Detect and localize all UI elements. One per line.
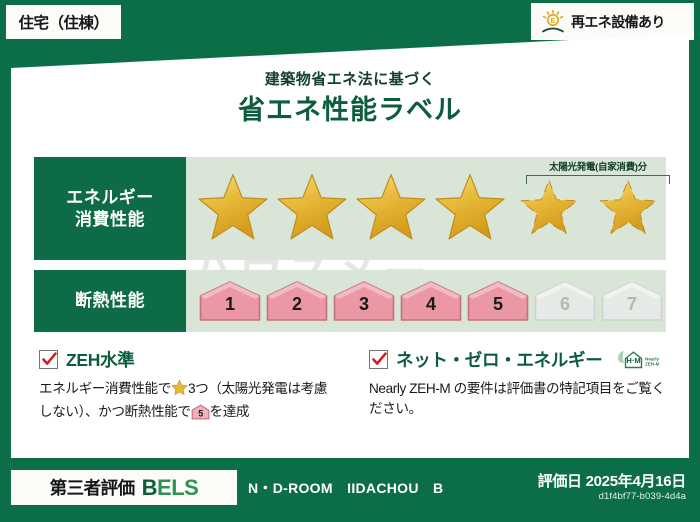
star-filled xyxy=(352,170,430,248)
bels-wordmark: BELS xyxy=(142,475,199,501)
zeh-m-house-text: H·M xyxy=(627,356,641,365)
evaluation-id: d1f4bf77-b039-4d4a xyxy=(599,491,686,502)
footer-bar: 第三者評価 BELS N・D-ROOM IIDACHOU B 評価日 2025年… xyxy=(0,458,700,522)
insulation-badge-number: 7 xyxy=(600,294,664,315)
net-zero-title: ネット・ゼロ・エネルギー xyxy=(396,347,602,372)
renewable-equipment-badge: E 再エネ設備あり xyxy=(531,3,694,40)
star-filled xyxy=(273,170,351,248)
bels-energy-label: 住宅（住棟） E 再エネ設備あり 建築物省エネ法に基づく 省エネ性能ラベル ハウ… xyxy=(0,0,700,522)
insulation-badge-4: 4 xyxy=(399,279,463,323)
net-zero-body: Nearly ZEH-M の要件は評価書の特記項目をご覧ください。 xyxy=(369,379,669,419)
insulation-badge-number: 3 xyxy=(332,294,396,315)
insulation-badge-3: 3 xyxy=(332,279,396,323)
energy-performance-row: エネルギー 消費性能 太陽光発電(自家消費)分 xyxy=(34,157,666,260)
star-filled xyxy=(431,170,509,248)
zeh-check-icon xyxy=(39,350,58,369)
insulation-badge-5: 5 xyxy=(466,279,530,323)
svg-text:E: E xyxy=(551,18,556,25)
inline-badge-number: 5 xyxy=(198,409,203,419)
zeh-body-part1: エネルギー消費性能で xyxy=(39,381,171,396)
zeh-standard-block: ZEH水準 エネルギー消費性能で3つ（太陽光発電は考慮しない）、かつ断熱性能で5… xyxy=(39,347,339,426)
renewable-badge-label: 再エネ設備あり xyxy=(571,12,665,32)
energy-row-body: 太陽光発電(自家消費)分 xyxy=(186,157,666,260)
insulation-badge-number: 4 xyxy=(399,294,463,315)
evaluation-date: 評価日 2025年4月16日 xyxy=(538,470,686,491)
building-type-tag: 住宅（住棟） xyxy=(6,5,121,39)
label-card: 建築物省エネ法に基づく 省エネ性能ラベル ハウスメー エネルギー 消費性能 太陽… xyxy=(11,22,689,458)
net-zero-check-icon xyxy=(369,350,388,369)
insulation-badge-6: 6 xyxy=(533,279,597,323)
star-dashed xyxy=(589,170,667,248)
label-title: 省エネ性能ラベル xyxy=(11,88,689,127)
zeh-standard-heading: ZEH水準 xyxy=(39,347,339,372)
label-subtitle: 建築物省エネ法に基づく xyxy=(11,68,689,89)
building-name: N・D-ROOM IIDACHOU B xyxy=(248,478,443,498)
zeh-standard-title: ZEH水準 xyxy=(66,347,135,372)
net-zero-energy-block: ネット・ゼロ・エネルギー H·M Nearly ZEH-M Nearly ZEH… xyxy=(369,347,669,419)
insulation-badge-2: 2 xyxy=(265,279,329,323)
insulation-badge-1: 1 xyxy=(198,279,262,323)
bels-plate: 第三者評価 BELS xyxy=(11,470,237,505)
net-zero-heading: ネット・ゼロ・エネルギー H·M Nearly ZEH-M xyxy=(369,347,669,372)
energy-row-label: エネルギー 消費性能 xyxy=(34,157,186,260)
insulation-badge-number: 6 xyxy=(533,294,597,315)
energy-label-line1: エネルギー xyxy=(66,187,154,209)
bels-letters-els: ELS xyxy=(157,475,198,500)
star-dashed xyxy=(510,170,588,248)
bels-letter-b: B xyxy=(142,475,157,500)
insulation-grade-inline-badge: 5 xyxy=(191,404,210,426)
zeh-m-house-logo: H·M Nearly ZEH-M xyxy=(615,348,659,372)
insulation-badge-number: 1 xyxy=(198,294,262,315)
zeh-standard-body: エネルギー消費性能で3つ（太陽光発電は考慮しない）、かつ断熱性能で5を達成 xyxy=(39,379,339,426)
insulation-performance-row: 断熱性能 1234567 xyxy=(34,270,666,332)
star-icon xyxy=(171,379,188,402)
zeh-m-caption-line2: ZEH-M xyxy=(645,361,659,366)
star-filled xyxy=(194,170,272,248)
insulation-row-body: 1234567 xyxy=(186,270,666,332)
bels-jp-label: 第三者評価 xyxy=(50,475,135,500)
insulation-grade-badges: 1234567 xyxy=(186,270,666,332)
insulation-badge-number: 2 xyxy=(265,294,329,315)
insulation-badge-number: 5 xyxy=(466,294,530,315)
energy-label-line2: 消費性能 xyxy=(75,209,145,231)
zeh-body-part3: を達成 xyxy=(210,404,250,419)
insulation-badge-7: 7 xyxy=(600,279,664,323)
sun-renewable-icon: E xyxy=(540,9,566,35)
insulation-row-label: 断熱性能 xyxy=(34,270,186,332)
insulation-label-text: 断熱性能 xyxy=(75,290,145,312)
star-rating xyxy=(186,157,666,260)
